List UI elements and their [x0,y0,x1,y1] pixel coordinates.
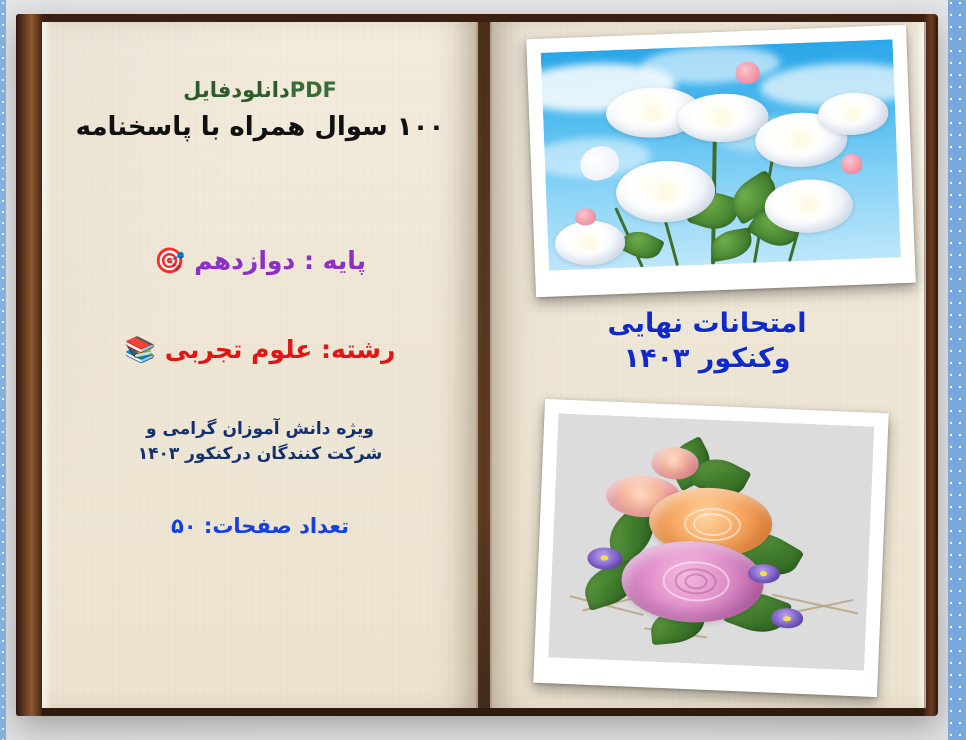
white-roses-photo [541,39,901,270]
audience-paragraph: ویژه دانش آموزان گرامی و شرکت کنندگان در… [42,417,478,466]
painted-bouquet-photo [548,413,874,670]
right-page: امتحانات نهایی وکنکور ۱۴۰۳ [490,22,924,708]
download-file-label: دانلودفایل [183,78,290,102]
grade-row: پایه : دوازدهم 🎯 [42,246,478,275]
audience-line-2: شرکت کنندگان درکنکور ۱۴۰۳ [42,442,478,467]
question-count-heading: ۱۰۰ سوال همراه با پاسخنامه [42,112,478,142]
violet-flower [771,608,803,629]
books-icon: 📚 [125,337,156,362]
audience-line-1: ویژه دانش آموزان گرامی و [42,417,478,442]
pink-bud [841,154,863,174]
screenshot-stage: PDFدانلودفایل ۱۰۰ سوال همراه با پاسخنامه… [0,0,966,740]
dart-board-icon: 🎯 [154,248,185,273]
left-page: PDFدانلودفایل ۱۰۰ سوال همراه با پاسخنامه… [42,22,478,708]
right-page-content: امتحانات نهایی وکنکور ۱۴۰۳ [490,22,924,708]
page-count-label: تعداد صفحات: ۵۰ [42,514,478,538]
pdf-label: PDF [290,78,337,102]
open-book: PDFدانلودفایل ۱۰۰ سوال همراه با پاسخنامه… [16,14,938,716]
photo-frame-white-roses [526,25,916,297]
title-line-2: وکنکور ۱۴۰۳ [490,342,924,377]
right-dotted-ribbon [948,0,966,740]
book-spine-right-edge [924,14,938,716]
major-row: رشته: علوم تجربی 📚 [42,335,478,364]
right-page-title: امتحانات نهایی وکنکور ۱۴۰۳ [490,307,924,376]
left-page-content: PDFدانلودفایل ۱۰۰ سوال همراه با پاسخنامه… [42,22,478,708]
title-line-1: امتحانات نهایی [490,307,924,342]
photo-frame-bouquet [533,399,889,697]
grade-label: پایه : دوازدهم [194,246,366,275]
book-spine-left-edge [16,14,42,716]
major-label: رشته: علوم تجربی [165,335,396,364]
download-file-heading: PDFدانلودفایل [42,78,478,102]
left-dotted-ribbon [0,0,6,740]
rose-swirl [684,573,708,590]
